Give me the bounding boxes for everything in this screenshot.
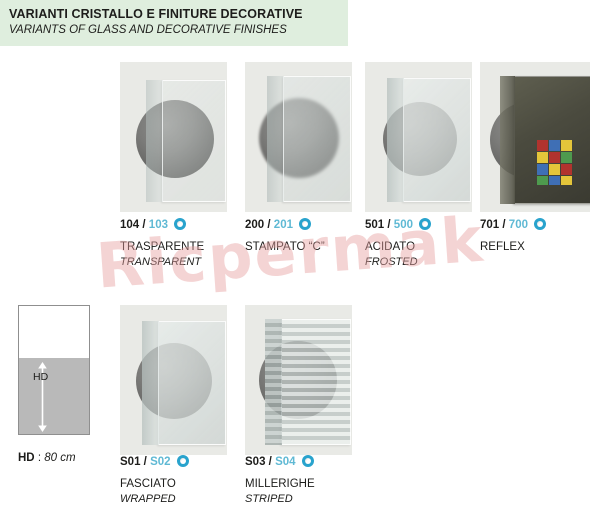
sample-caption-stampato-c: 200 / 201 STAMPATO “C” bbox=[245, 218, 375, 256]
sample-swatch-trasparente bbox=[120, 62, 227, 212]
sample-caption-fasciato: S01 / S02 FASCIATO WRAPPED bbox=[120, 455, 250, 506]
glass-panel-clear bbox=[162, 80, 226, 202]
sample-swatch-millerighe bbox=[245, 305, 352, 455]
glass-panel-edge bbox=[265, 319, 282, 445]
swatch-image-striped bbox=[245, 305, 352, 455]
sample-code: 501 bbox=[365, 219, 384, 231]
page-subtitle: VARIANTS OF GLASS AND DECORATIVE FINISHE… bbox=[9, 23, 348, 38]
sample-name-it: REFLEX bbox=[480, 241, 600, 254]
sample-swatch-stampato-c bbox=[245, 62, 352, 212]
sample-swatch-acidato bbox=[365, 62, 472, 212]
sample-code: S01 bbox=[120, 456, 140, 468]
blue-dot-icon bbox=[177, 455, 189, 467]
blue-dot-icon bbox=[174, 218, 186, 230]
sample-caption-acidato: 501 / 500 ACIDATO FROSTED bbox=[365, 218, 495, 269]
sample-caption-reflex: 701 / 700 REFLEX bbox=[480, 218, 600, 256]
hd-caption: HD : 80 cm bbox=[18, 452, 76, 464]
sample-alt-code: 500 bbox=[394, 219, 413, 231]
sample-code: 104 bbox=[120, 219, 139, 231]
glass-panel-edge bbox=[142, 321, 159, 445]
sample-alt-code: S04 bbox=[275, 456, 295, 468]
swatch-image-reflex bbox=[480, 62, 590, 212]
sample-code-line: S03 / S04 bbox=[245, 455, 375, 469]
hd-arrow-label: HD bbox=[33, 371, 48, 383]
sample-name-it: MILLERIGHE bbox=[245, 478, 375, 491]
glass-panel-printed bbox=[283, 76, 351, 202]
sample-code-separator: / bbox=[267, 219, 270, 231]
sample-caption-millerighe: S03 / S04 MILLERIGHE STRIPED bbox=[245, 455, 375, 506]
glass-panel-edge bbox=[146, 80, 163, 202]
sample-swatch-reflex bbox=[480, 62, 590, 212]
sample-code-line: 104 / 103 bbox=[120, 218, 250, 232]
sample-code-separator: / bbox=[144, 456, 147, 468]
sample-name-it: ACIDATO bbox=[365, 241, 495, 254]
sample-code: 200 bbox=[245, 219, 264, 231]
glass-panel-edge bbox=[500, 76, 515, 204]
swatch-image-frosted bbox=[365, 62, 472, 212]
sample-code: S03 bbox=[245, 456, 265, 468]
sample-code-separator: / bbox=[142, 219, 145, 231]
glass-panel-frosted bbox=[403, 78, 471, 202]
sample-code-line: 501 / 500 bbox=[365, 218, 495, 232]
sample-name-en: TRANSPARENT bbox=[120, 256, 250, 269]
blue-dot-icon bbox=[419, 218, 431, 230]
sample-alt-code: 201 bbox=[274, 219, 293, 231]
sample-swatch-fasciato bbox=[120, 305, 227, 455]
glass-panel-edge bbox=[387, 78, 404, 202]
page-title: VARIANTI CRISTALLO E FINITURE DECORATIVE bbox=[9, 7, 348, 22]
glass-panel-edge bbox=[267, 76, 284, 202]
hd-fill-area bbox=[19, 358, 89, 434]
blue-dot-icon bbox=[299, 218, 311, 230]
sample-alt-code: S02 bbox=[150, 456, 170, 468]
blue-dot-icon bbox=[302, 455, 314, 467]
glass-panel-wrapped bbox=[158, 321, 226, 445]
sample-name-it: FASCIATO bbox=[120, 478, 250, 491]
sample-code-separator: / bbox=[502, 219, 505, 231]
sample-name-it: TRASPARENTE bbox=[120, 241, 250, 254]
sample-alt-code: 700 bbox=[509, 219, 528, 231]
glass-panel-striped bbox=[281, 319, 351, 445]
sample-caption-trasparente: 104 / 103 TRASPARENTE TRANSPARENT bbox=[120, 218, 250, 269]
sample-code-line: 701 / 700 bbox=[480, 218, 600, 232]
sample-name-en: WRAPPED bbox=[120, 493, 250, 506]
hd-caption-value: 80 cm bbox=[44, 452, 75, 464]
sample-name-en: FROSTED bbox=[365, 256, 495, 269]
sample-code-separator: / bbox=[269, 456, 272, 468]
swatch-image-wrapped bbox=[120, 305, 227, 455]
sample-code-line: S01 / S02 bbox=[120, 455, 250, 469]
sample-alt-code: 103 bbox=[149, 219, 168, 231]
page-root: VARIANTI CRISTALLO E FINITURE DECORATIVE… bbox=[0, 0, 600, 524]
hd-caption-separator: : bbox=[35, 452, 45, 464]
swatch-image-printed-c bbox=[245, 62, 352, 212]
sample-code-separator: / bbox=[387, 219, 390, 231]
hd-diagram bbox=[18, 305, 90, 435]
sample-code: 701 bbox=[480, 219, 499, 231]
color-chips-graphic bbox=[537, 140, 583, 186]
blue-dot-icon bbox=[534, 218, 546, 230]
header-banner: VARIANTI CRISTALLO E FINITURE DECORATIVE… bbox=[0, 0, 348, 46]
swatch-image-clear bbox=[120, 62, 227, 212]
sample-name-it: STAMPATO “C” bbox=[245, 241, 375, 254]
sample-name-en: STRIPED bbox=[245, 493, 375, 506]
sample-code-line: 200 / 201 bbox=[245, 218, 375, 232]
hd-caption-label: HD bbox=[18, 452, 35, 464]
